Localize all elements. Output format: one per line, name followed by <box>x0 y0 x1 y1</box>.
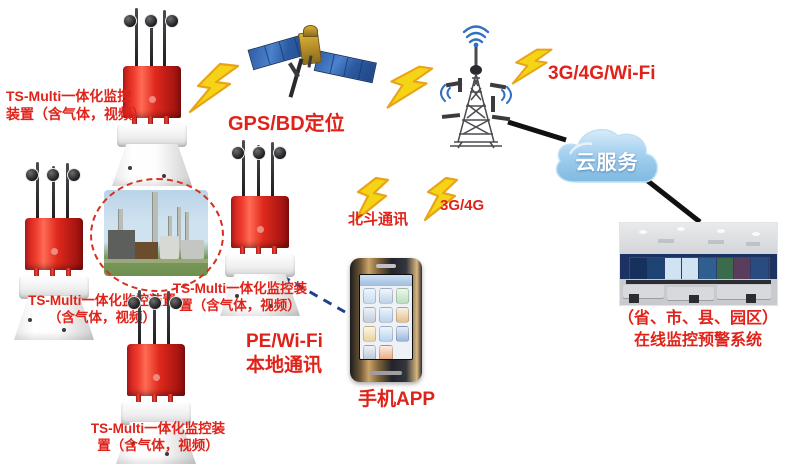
bolt-satellite-to-tower <box>382 64 436 114</box>
diagram-canvas: TS-Multi一体化监控 装置（含气体，视频） TS-Multi一体化监控装置… <box>0 0 797 464</box>
label-pe-wifi: PE/Wi-Fi 本地通讯 <box>246 330 323 379</box>
app-icon <box>396 345 409 359</box>
label-beidou: 北斗通讯 <box>348 210 408 229</box>
satellite-icon <box>248 14 374 106</box>
app-icon <box>396 288 409 304</box>
label-3g4g-wifi: 3G/4G/Wi-Fi <box>548 62 656 86</box>
label-3g4g: 3G/4G <box>440 196 484 215</box>
app-icon <box>363 307 376 323</box>
label-device-bottom: TS-Multi一体化监控装 置（含气体，视频） <box>58 420 258 455</box>
highlight-circle <box>90 178 224 292</box>
app-icon <box>379 326 392 342</box>
label-gps-bd: GPS/BD定位 <box>228 112 345 138</box>
monitoring-device-bottom <box>108 290 204 440</box>
label-phone-app: 手机APP <box>358 388 435 412</box>
app-icon <box>363 288 376 304</box>
app-icon <box>379 307 392 323</box>
app-icon <box>379 345 392 360</box>
app-icon <box>363 345 376 360</box>
app-icon <box>379 288 392 304</box>
monitoring-device-mid-right <box>212 140 308 290</box>
bolt-device-to-satellite <box>186 62 244 114</box>
control-room-scene <box>620 223 777 305</box>
control-room-photo <box>619 222 778 306</box>
handheld-terminal-icon <box>350 258 422 382</box>
label-control-center: （省、市、县、园区） 在线监控预警系统 <box>600 308 796 351</box>
cloud-label: 云服务 <box>548 146 666 175</box>
app-icon <box>363 326 376 342</box>
cloud-icon: 云服务 <box>548 120 666 192</box>
monitoring-device-mid-left <box>6 162 102 312</box>
label-device-top-left: TS-Multi一体化监控 装置（含气体，视频） <box>6 88 146 124</box>
app-icon <box>396 307 409 323</box>
app-icon <box>396 326 409 342</box>
